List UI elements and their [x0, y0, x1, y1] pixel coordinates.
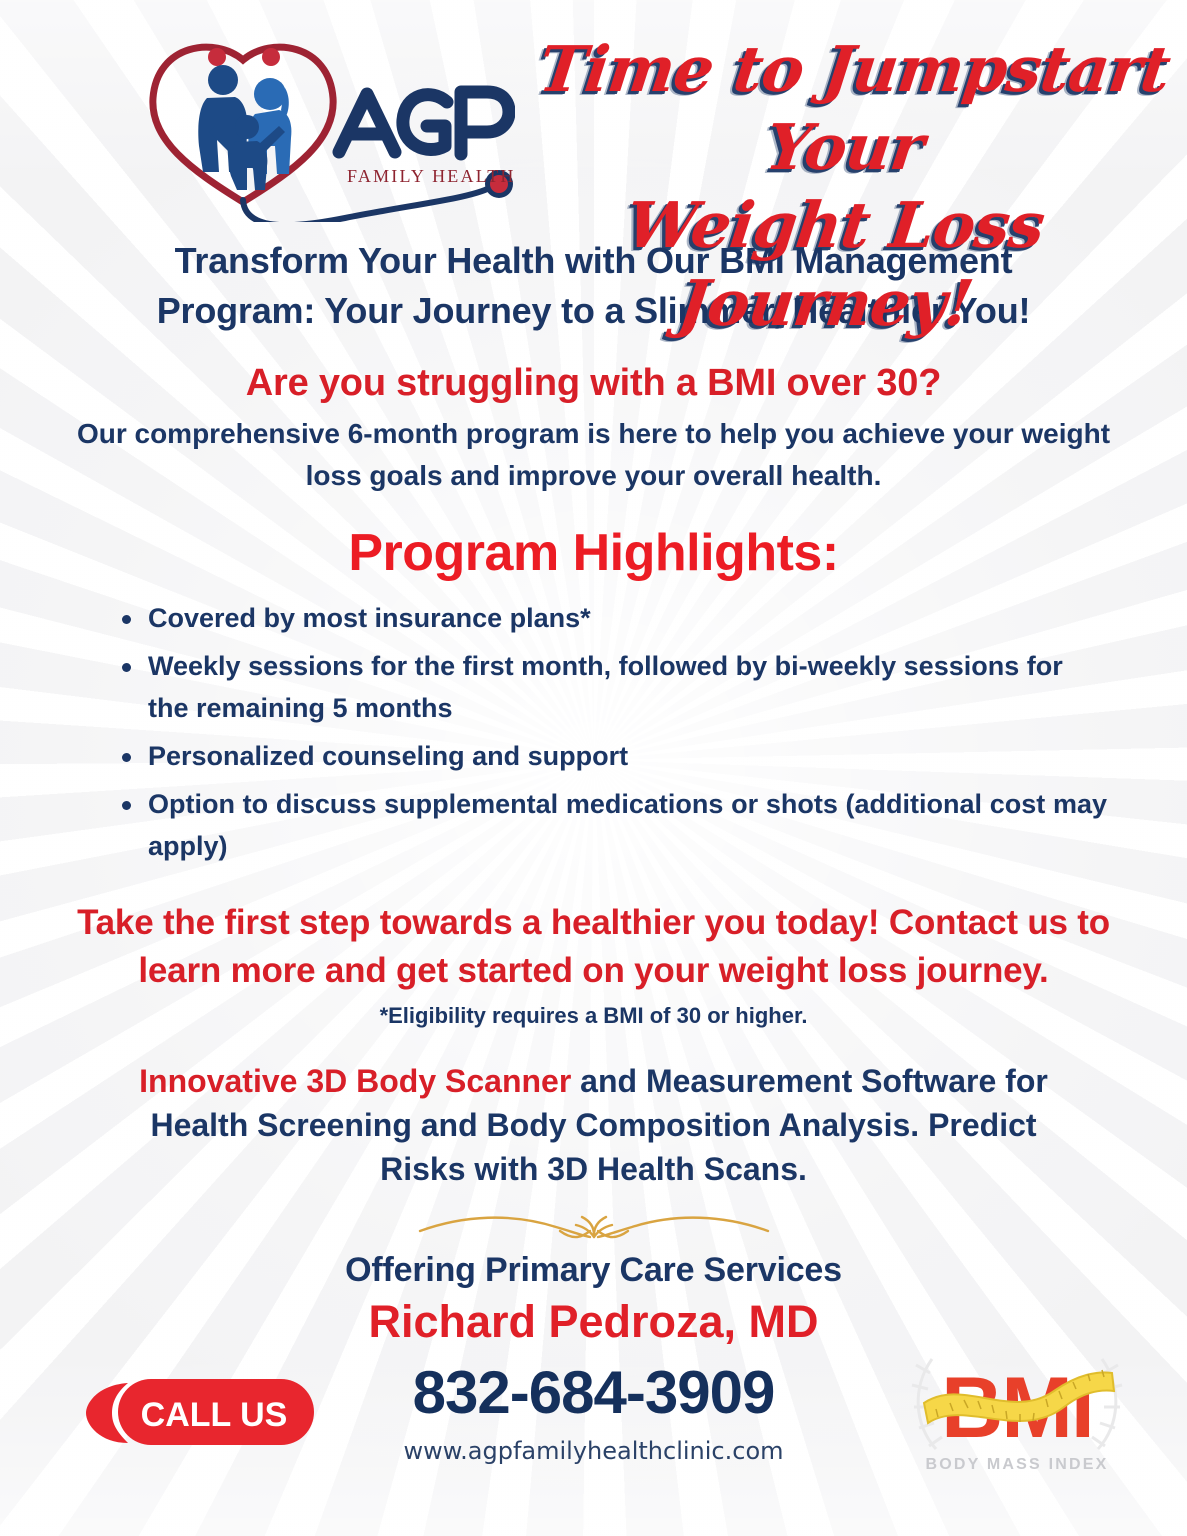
- list-item: Weekly sessions for the first month, fol…: [120, 645, 1107, 729]
- list-item: Personalized counseling and support: [120, 735, 1107, 777]
- list-item-text: Weekly sessions for the first month, fol…: [148, 651, 1063, 723]
- offering-services-text: Offering Primary Care Services: [0, 1251, 1187, 1290]
- eligibility-fine-print: *Eligibility requires a BMI of 30 or hig…: [0, 1003, 1187, 1029]
- intro-paragraph: Our comprehensive 6-month program is her…: [74, 413, 1114, 497]
- list-item-text: Personalized counseling and support: [148, 741, 628, 771]
- flyer-page: FAMILY HEALTH CLINIC Time to Jumpstart Y…: [0, 0, 1187, 1536]
- clinic-logo-icon: FAMILY HEALTH CLINIC: [95, 22, 515, 222]
- list-item-text: Option to discuss supplemental medicatio…: [148, 789, 1107, 861]
- list-item: Option to discuss supplemental medicatio…: [120, 783, 1107, 867]
- flyer-header: FAMILY HEALTH CLINIC Time to Jumpstart Y…: [0, 0, 1187, 232]
- question-headline: Are you struggling with a BMI over 30?: [0, 362, 1187, 405]
- list-item-text: Covered by most insurance plans*: [148, 603, 591, 633]
- program-highlights-title: Program Highlights:: [0, 523, 1187, 583]
- scanner-paragraph: Innovative 3D Body Scanner and Measureme…: [114, 1059, 1074, 1191]
- call-us-label: CALL US: [141, 1396, 288, 1434]
- ornamental-divider-icon: [384, 1207, 804, 1247]
- call-us-badge-icon[interactable]: CALL US: [82, 1373, 314, 1451]
- program-highlights-list: Covered by most insurance plans* Weekly …: [0, 597, 1187, 867]
- headline-line-2: Weight Loss Journey!: [501, 186, 1160, 342]
- call-to-action-text: Take the first step towards a healthier …: [59, 899, 1129, 995]
- clinic-tagline-text: FAMILY HEALTH CLINIC: [347, 166, 515, 186]
- headline-script: Time to Jumpstart Your Weight Loss Journ…: [501, 30, 1179, 342]
- clinic-logo: FAMILY HEALTH CLINIC: [95, 22, 515, 222]
- bmi-badge: BMI BODY MASS INDEX: [902, 1329, 1132, 1479]
- bmi-expansion: BODY MASS INDEX: [926, 1456, 1109, 1473]
- bmi-badge-icon: BMI BODY MASS INDEX: [902, 1329, 1132, 1479]
- headline-line-1: Time to Jumpstart Your: [535, 32, 1174, 184]
- scanner-emphasis: Innovative 3D Body Scanner: [139, 1063, 571, 1099]
- list-item: Covered by most insurance plans*: [120, 597, 1107, 639]
- call-us-badge[interactable]: CALL US: [82, 1373, 314, 1451]
- flyer-footer: Offering Primary Care Services Richard P…: [0, 1251, 1187, 1531]
